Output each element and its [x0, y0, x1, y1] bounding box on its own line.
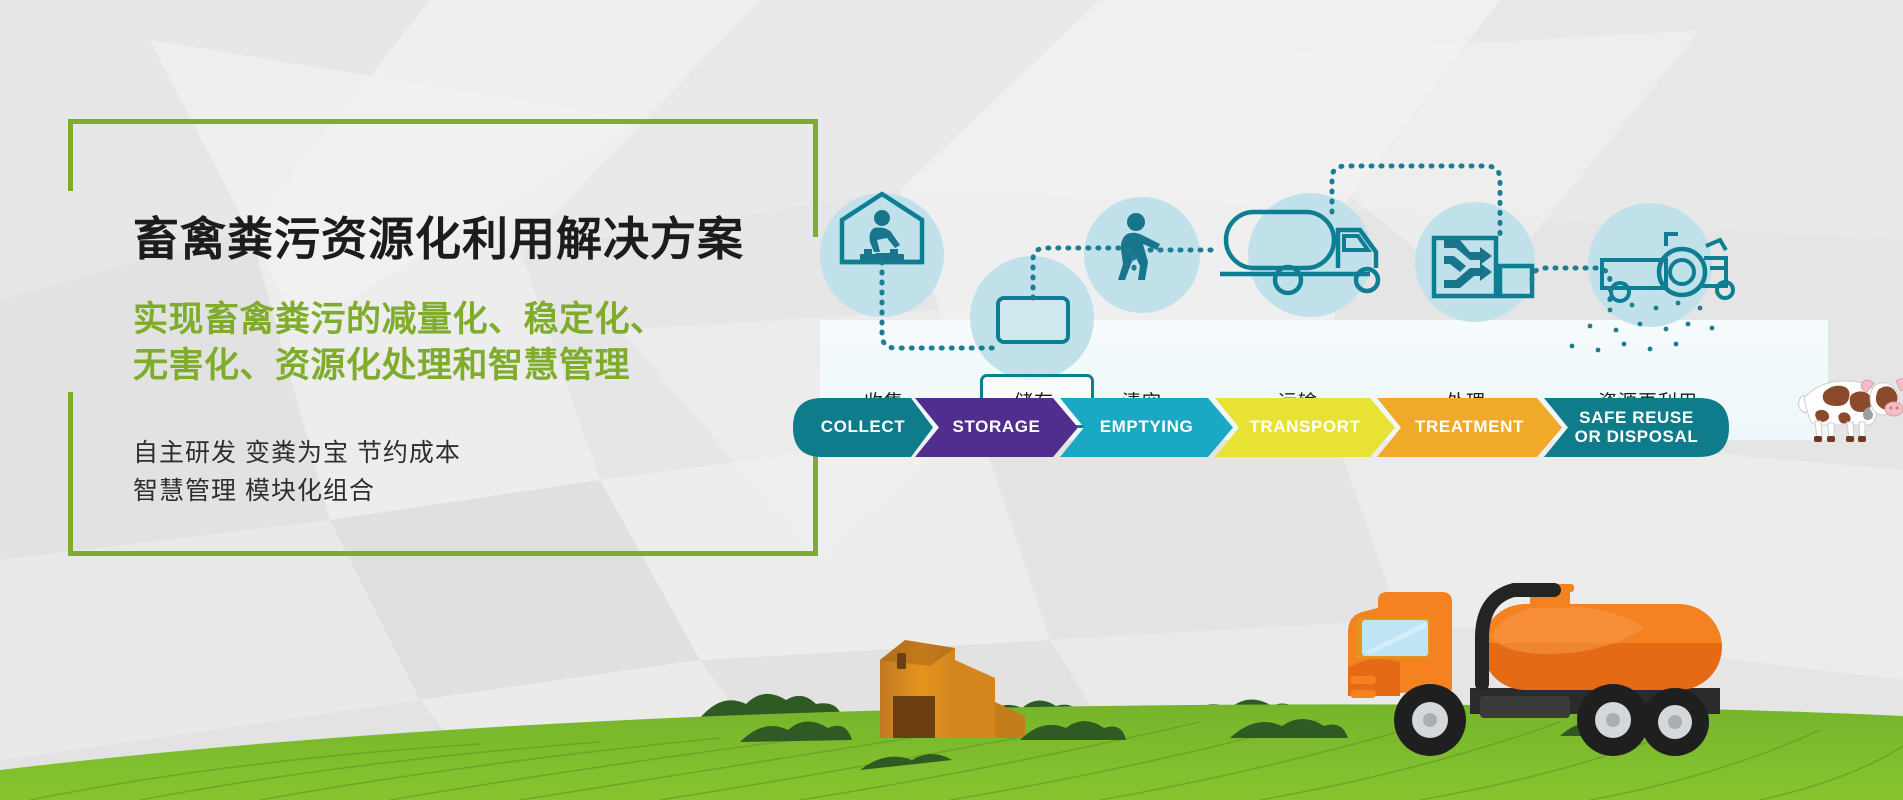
subtitle-line-1: 实现畜禽粪污的减量化、稳定化、: [133, 297, 666, 343]
page-title: 畜禽粪污资源化利用解决方案: [133, 215, 744, 264]
subtitle-line-2: 无害化、资源化处理和智慧管理: [133, 343, 666, 389]
chevron-label-treatment: TREATMENT: [1411, 418, 1528, 436]
page-subtitle: 实现畜禽粪污的减量化、稳定化、 无害化、资源化处理和智慧管理: [133, 297, 666, 389]
barn-icon: [880, 640, 1025, 738]
chevron-label-safe-reuse: SAFE REUSE OR DISPOSAL: [1571, 409, 1703, 446]
orange-tanker-truck-icon: [1330, 560, 1750, 760]
storage-box-icon: [998, 298, 1068, 342]
banner-canvas: 畜禽粪污资源化利用解决方案 实现畜禽粪污的减量化、稳定化、 无害化、资源化处理和…: [0, 0, 1903, 800]
process-diagram: 收集 储存 清空 运输 处理 资源再利用: [820, 150, 1880, 440]
chevron-label-collect: COLLECT: [817, 418, 909, 436]
chevron-label-emptying: EMPTYING: [1096, 418, 1198, 436]
chevron-safe-reuse[interactable]: SAFE REUSE OR DISPOSAL: [1544, 398, 1729, 457]
chevron-emptying[interactable]: EMPTYING: [1060, 398, 1233, 457]
chevron-label-storage: STORAGE: [949, 418, 1045, 436]
chevron-label-transport: TRANSPORT: [1245, 418, 1364, 436]
tagline-line-1: 自主研发 变粪为宝 节约成本: [133, 435, 461, 473]
chevron-transport[interactable]: TRANSPORT: [1215, 398, 1395, 457]
chevron-treatment[interactable]: TREATMENT: [1377, 398, 1562, 457]
chevron-storage[interactable]: STORAGE: [915, 398, 1078, 457]
chevron-collect[interactable]: COLLECT: [793, 398, 933, 457]
process-chevron-bar: COLLECT STORAGE EMPTYING TRANSPORT TREAT…: [793, 398, 1879, 457]
